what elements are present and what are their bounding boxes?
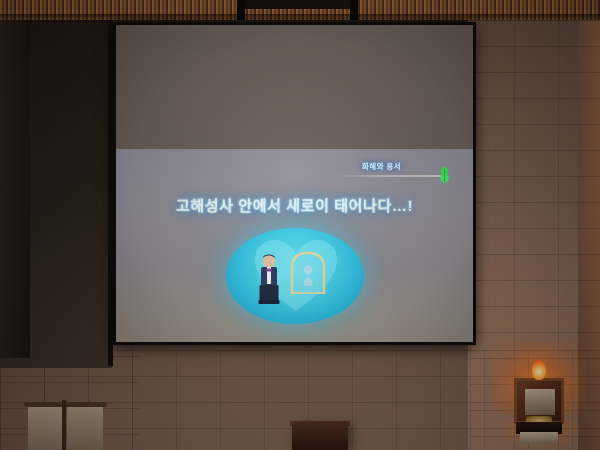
sconce-picture [525, 389, 555, 415]
slide-header: 화해와 용서 [338, 162, 456, 184]
confession-illustration [226, 228, 364, 324]
photo-scene: 화해와 용서 고해성사 안에서 새로이 태어나다…! [0, 0, 600, 450]
wall-sconce-shrine [510, 364, 568, 446]
confessional-booth [288, 250, 328, 294]
banner-post [62, 400, 66, 450]
projection-screen-frame: 화해와 용서 고해성사 안에서 새로이 태어나다…! [113, 22, 476, 345]
header-rule [338, 175, 442, 177]
dark-wall-stripe [0, 18, 30, 358]
priest-figure [256, 254, 282, 306]
slide-title: 고해성사 안에서 새로이 태어나다…! [116, 195, 473, 216]
banner-cloth-left [28, 406, 64, 450]
slide-header-label: 화해와 용서 [362, 161, 401, 172]
projected-slide: 화해와 용서 고해성사 안에서 새로이 태어나다…! [116, 149, 473, 342]
ceiling-gap [245, 0, 350, 9]
sconce-flame [532, 360, 546, 380]
sconce-base [520, 432, 558, 444]
sprout-icon [438, 166, 451, 184]
fabric-banner-stand [22, 396, 108, 450]
projection-screen-surface: 화해와 용서 고해성사 안에서 새로이 태어나다…! [116, 25, 473, 342]
banner-bar-left [24, 402, 66, 407]
banner-cloth-right [67, 406, 103, 450]
banner-bar-right [65, 402, 107, 407]
ceiling-shadow [0, 14, 600, 22]
wooden-bench [292, 424, 348, 450]
